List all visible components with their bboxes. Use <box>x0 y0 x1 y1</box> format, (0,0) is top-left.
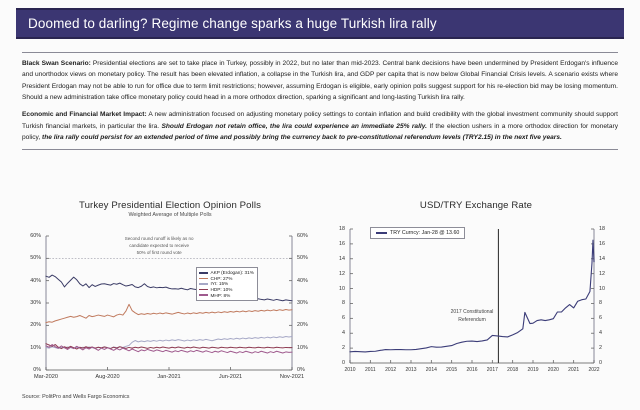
chart-opinion-polls-ytick-r-1: 10% <box>297 345 323 351</box>
chart-opinion-polls-ytick-r-6: 60% <box>297 233 323 239</box>
paragraph-black-swan: Black Swan Scenario: Presidential electi… <box>22 58 618 103</box>
chart-usdtry-ytick-l-1: 2 <box>328 345 345 351</box>
divider-bottom <box>22 149 618 150</box>
market-impact-emphasis-a: Should Erdogan not retain office, the li… <box>161 123 427 130</box>
chart-usdtry-annotation: 2017 ConstitutionalReferendum <box>451 309 494 324</box>
source-note: Source: PolitPro and Wells Fargo Economi… <box>22 394 129 400</box>
market-impact-lead: Economic and Financial Market Impact: <box>22 111 147 118</box>
chart-opinion-polls-legend: AKP (Erdogan): 31%CHP: 27%IYI: 15%HDP: 1… <box>196 267 258 301</box>
chart-usdtry-ytick-l-8: 16 <box>328 241 345 247</box>
chart-usdtry-ytick-r-9: 18 <box>599 226 621 232</box>
chart-usdtry-ytick-r-0: 0 <box>599 360 621 366</box>
chart-usdtry-xtick-1: 2011 <box>365 367 376 373</box>
chart-usdtry-xtick-10: 2020 <box>548 367 559 373</box>
legend-swatch-icon <box>199 294 208 296</box>
legend-swatch-icon <box>376 232 387 234</box>
paragraph-market-impact: Economic and Financial Market Impact: A … <box>22 109 618 143</box>
legend-label: CHP: 27% <box>211 276 233 281</box>
chart-usdtry-ytick-r-8: 16 <box>599 241 621 247</box>
legend-swatch-icon <box>199 278 208 280</box>
divider-top <box>22 52 618 53</box>
chart-opinion-polls-ytick-r-5: 50% <box>297 255 323 261</box>
chart-opinion-polls-ytick-l-3: 30% <box>20 300 41 306</box>
chart-opinion-polls-ytick-l-6: 60% <box>20 233 41 239</box>
chart-opinion-polls-annotation: Second round runoff is likely as nocandi… <box>125 236 194 256</box>
chart-opinion-polls-ytick-l-2: 20% <box>20 322 41 328</box>
chart-usdtry-plot: 2017 ConstitutionalReferendum TRY Curncy… <box>328 217 624 387</box>
chart-usdtry-ytick-l-0: 0 <box>328 360 345 366</box>
chart-usdtry-xtick-2: 2012 <box>385 367 396 373</box>
chart-usdtry-ytick-r-7: 14 <box>599 256 621 262</box>
body-text-block: Black Swan Scenario: Presidential electi… <box>22 52 618 150</box>
chart-usdtry-xtick-3: 2013 <box>405 367 416 373</box>
chart-usdtry-ytick-r-4: 8 <box>599 300 621 306</box>
chart-opinion-polls-ytick-l-4: 40% <box>20 278 41 284</box>
chart-opinion-polls-ytick-l-0: 0% <box>20 367 41 373</box>
chart-usdtry-ytick-r-3: 6 <box>599 315 621 321</box>
chart-usdtry-ytick-l-2: 4 <box>328 330 345 336</box>
charts-row: Turkey Presidential Election Opinion Pol… <box>20 200 624 400</box>
chart-opinion-polls-xtick-3: Jun-2021 <box>219 374 242 380</box>
legend-swatch-icon <box>199 283 208 285</box>
legend-swatch-icon <box>199 289 208 291</box>
chart-usdtry-legend: TRY Curncy: Jan-28 @ 13.60 <box>370 227 465 239</box>
legend-label: IYI: 15% <box>211 281 229 286</box>
chart-usdtry-ytick-r-5: 10 <box>599 286 621 292</box>
chart-opinion-polls-ytick-r-4: 40% <box>297 278 323 284</box>
black-swan-lead: Black Swan Scenario: <box>22 60 91 67</box>
chart-usdtry-xtick-0: 2010 <box>344 367 355 373</box>
chart-usdtry-xtick-6: 2016 <box>466 367 477 373</box>
chart-opinion-polls-ytick-r-3: 30% <box>297 300 323 306</box>
chart-opinion-polls-plot: Second round runoff is likely as nocandi… <box>20 224 320 394</box>
legend-label: HDP: 10% <box>211 287 233 292</box>
chart-usdtry-xtick-9: 2019 <box>527 367 538 373</box>
chart-usdtry-xtick-5: 2015 <box>446 367 457 373</box>
chart-usdtry-xtick-8: 2018 <box>507 367 518 373</box>
chart-usdtry-xtick-11: 2021 <box>568 367 579 373</box>
chart-opinion-polls-subtitle: Weighted Average of Multiple Polls <box>20 212 320 218</box>
legend-swatch-icon <box>199 272 208 274</box>
market-impact-emphasis-b: the lira rally could persist for an exte… <box>42 134 562 141</box>
legend-label: AKP (Erdogan): 31% <box>211 270 254 275</box>
chart-usdtry-ytick-l-3: 6 <box>328 315 345 321</box>
chart-usdtry-ytick-l-9: 18 <box>328 226 345 232</box>
chart-usdtry-xtick-4: 2014 <box>426 367 437 373</box>
chart-opinion-polls-ytick-r-2: 20% <box>297 322 323 328</box>
chart-opinion-polls-ytick-r-0: 0% <box>297 367 323 373</box>
chart-usdtry-ytick-l-5: 10 <box>328 286 345 292</box>
legend-label: MHP: 8% <box>211 293 231 298</box>
chart-usdtry-svg <box>328 217 624 387</box>
chart-opinion-polls-xtick-0: Mar-2020 <box>34 374 58 380</box>
chart-usdtry-xtick-12: 2022 <box>588 367 599 373</box>
chart-usdtry-xtick-7: 2017 <box>487 367 498 373</box>
chart-opinion-polls-ytick-l-5: 50% <box>20 255 41 261</box>
chart-opinion-polls: Turkey Presidential Election Opinion Pol… <box>20 200 320 394</box>
chart-usdtry-ytick-l-6: 12 <box>328 271 345 277</box>
chart-usdtry-ytick-l-7: 14 <box>328 256 345 262</box>
chart-opinion-polls-ytick-l-1: 10% <box>20 345 41 351</box>
chart-usdtry: USD/TRY Exchange Rate 2017 Constitutiona… <box>328 200 624 387</box>
chart-usdtry-ytick-l-4: 8 <box>328 300 345 306</box>
page-title: Doomed to darling? Regime change sparks … <box>16 16 437 31</box>
chart-usdtry-ytick-r-2: 4 <box>599 330 621 336</box>
chart-opinion-polls-legend-item-4: MHP: 8% <box>199 292 254 298</box>
header-banner: Doomed to darling? Regime change sparks … <box>16 8 624 39</box>
chart-opinion-polls-title: Turkey Presidential Election Opinion Pol… <box>20 200 320 211</box>
chart-opinion-polls-xtick-2: Jan-2021 <box>157 374 180 380</box>
legend-label: TRY Curncy: Jan-28 @ 13.60 <box>390 230 459 236</box>
chart-opinion-polls-xtick-1: Aug-2020 <box>95 374 119 380</box>
chart-usdtry-ytick-r-1: 2 <box>599 345 621 351</box>
black-swan-text: Presidential elections are set to take p… <box>22 60 618 101</box>
chart-opinion-polls-xtick-4: Nov-2021 <box>280 374 304 380</box>
chart-usdtry-title: USD/TRY Exchange Rate <box>328 200 624 211</box>
slide-page: Doomed to darling? Regime change sparks … <box>0 0 640 410</box>
chart-usdtry-ytick-r-6: 12 <box>599 271 621 277</box>
